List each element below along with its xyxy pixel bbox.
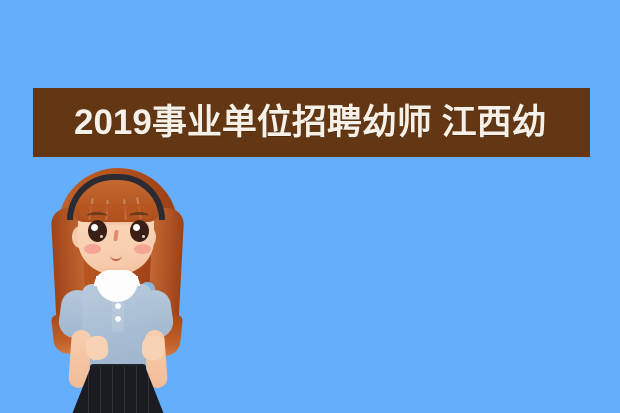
eyebrow-left: [87, 212, 107, 220]
blush-right: [134, 244, 151, 254]
eye-highlight: [133, 224, 140, 231]
eyebrow-right: [129, 212, 149, 220]
page-title: 2019事业单位招聘幼师 江西幼: [33, 105, 547, 140]
shirt-button-top: [115, 303, 121, 309]
blush-left: [84, 244, 101, 254]
schoolgirl-illustration: [34, 164, 216, 413]
eye-highlight-small: [100, 235, 103, 238]
shirt-button-bottom: [115, 316, 121, 322]
hand-left: [85, 335, 109, 361]
eye-highlight-small: [142, 235, 145, 238]
eye-highlight: [91, 224, 98, 231]
eye-left: [88, 220, 107, 242]
eye-right: [130, 220, 149, 242]
title-banner: 2019事业单位招聘幼师 江西幼: [33, 88, 590, 157]
thumbnail-canvas: 2019事业单位招聘幼师 江西幼: [0, 0, 620, 413]
